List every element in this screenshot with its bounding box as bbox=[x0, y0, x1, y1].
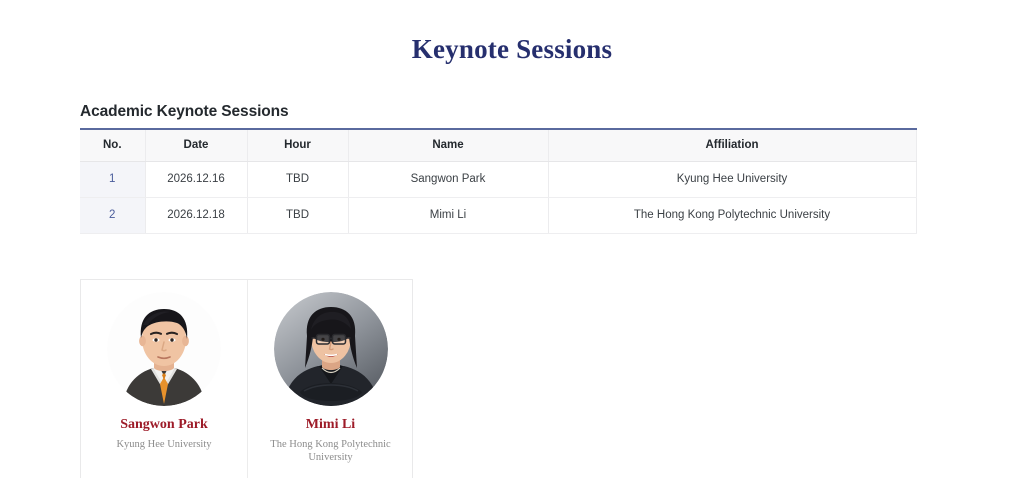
page-title: Keynote Sessions bbox=[0, 34, 1024, 65]
table-header-row: No. Date Hour Name Affiliation bbox=[80, 129, 916, 162]
cell-affiliation: The Hong Kong Polytechnic University bbox=[548, 198, 916, 234]
cell-name: Sangwon Park bbox=[348, 162, 548, 198]
column-header-date: Date bbox=[145, 129, 247, 162]
table-row: 2 2026.12.18 TBD Mimi Li The Hong Kong P… bbox=[80, 198, 916, 234]
cell-affiliation: Kyung Hee University bbox=[548, 162, 916, 198]
column-header-no: No. bbox=[80, 129, 145, 162]
avatar bbox=[274, 292, 388, 406]
sessions-table: No. Date Hour Name Affiliation 1 2026.12… bbox=[80, 128, 917, 234]
column-header-name: Name bbox=[348, 129, 548, 162]
avatar bbox=[107, 292, 221, 406]
speaker-name: Mimi Li bbox=[306, 417, 355, 434]
sessions-table-container: No. Date Hour Name Affiliation 1 2026.12… bbox=[80, 128, 916, 234]
speaker-affiliation: The Hong Kong Polytechnic University bbox=[265, 438, 397, 464]
speaker-card[interactable]: Mimi Li The Hong Kong Polytechnic Univer… bbox=[247, 280, 413, 478]
cell-hour: TBD bbox=[247, 162, 348, 198]
cell-no: 2 bbox=[80, 198, 145, 234]
speaker-affiliation: Kyung Hee University bbox=[116, 438, 211, 451]
cell-date: 2026.12.16 bbox=[145, 162, 247, 198]
cell-name: Mimi Li bbox=[348, 198, 548, 234]
speaker-cards-container: Sangwon Park Kyung Hee University bbox=[80, 279, 413, 478]
speaker-name: Sangwon Park bbox=[120, 417, 208, 434]
speaker-card[interactable]: Sangwon Park Kyung Hee University bbox=[81, 280, 247, 478]
cell-no: 1 bbox=[80, 162, 145, 198]
cell-hour: TBD bbox=[247, 198, 348, 234]
column-header-hour: Hour bbox=[247, 129, 348, 162]
table-row: 1 2026.12.16 TBD Sangwon Park Kyung Hee … bbox=[80, 162, 916, 198]
keynote-sessions-page: Keynote Sessions Academic Keynote Sessio… bbox=[0, 0, 1024, 478]
section-heading-academic-keynote-sessions: Academic Keynote Sessions bbox=[80, 103, 289, 121]
cell-date: 2026.12.18 bbox=[145, 198, 247, 234]
column-header-affiliation: Affiliation bbox=[548, 129, 916, 162]
